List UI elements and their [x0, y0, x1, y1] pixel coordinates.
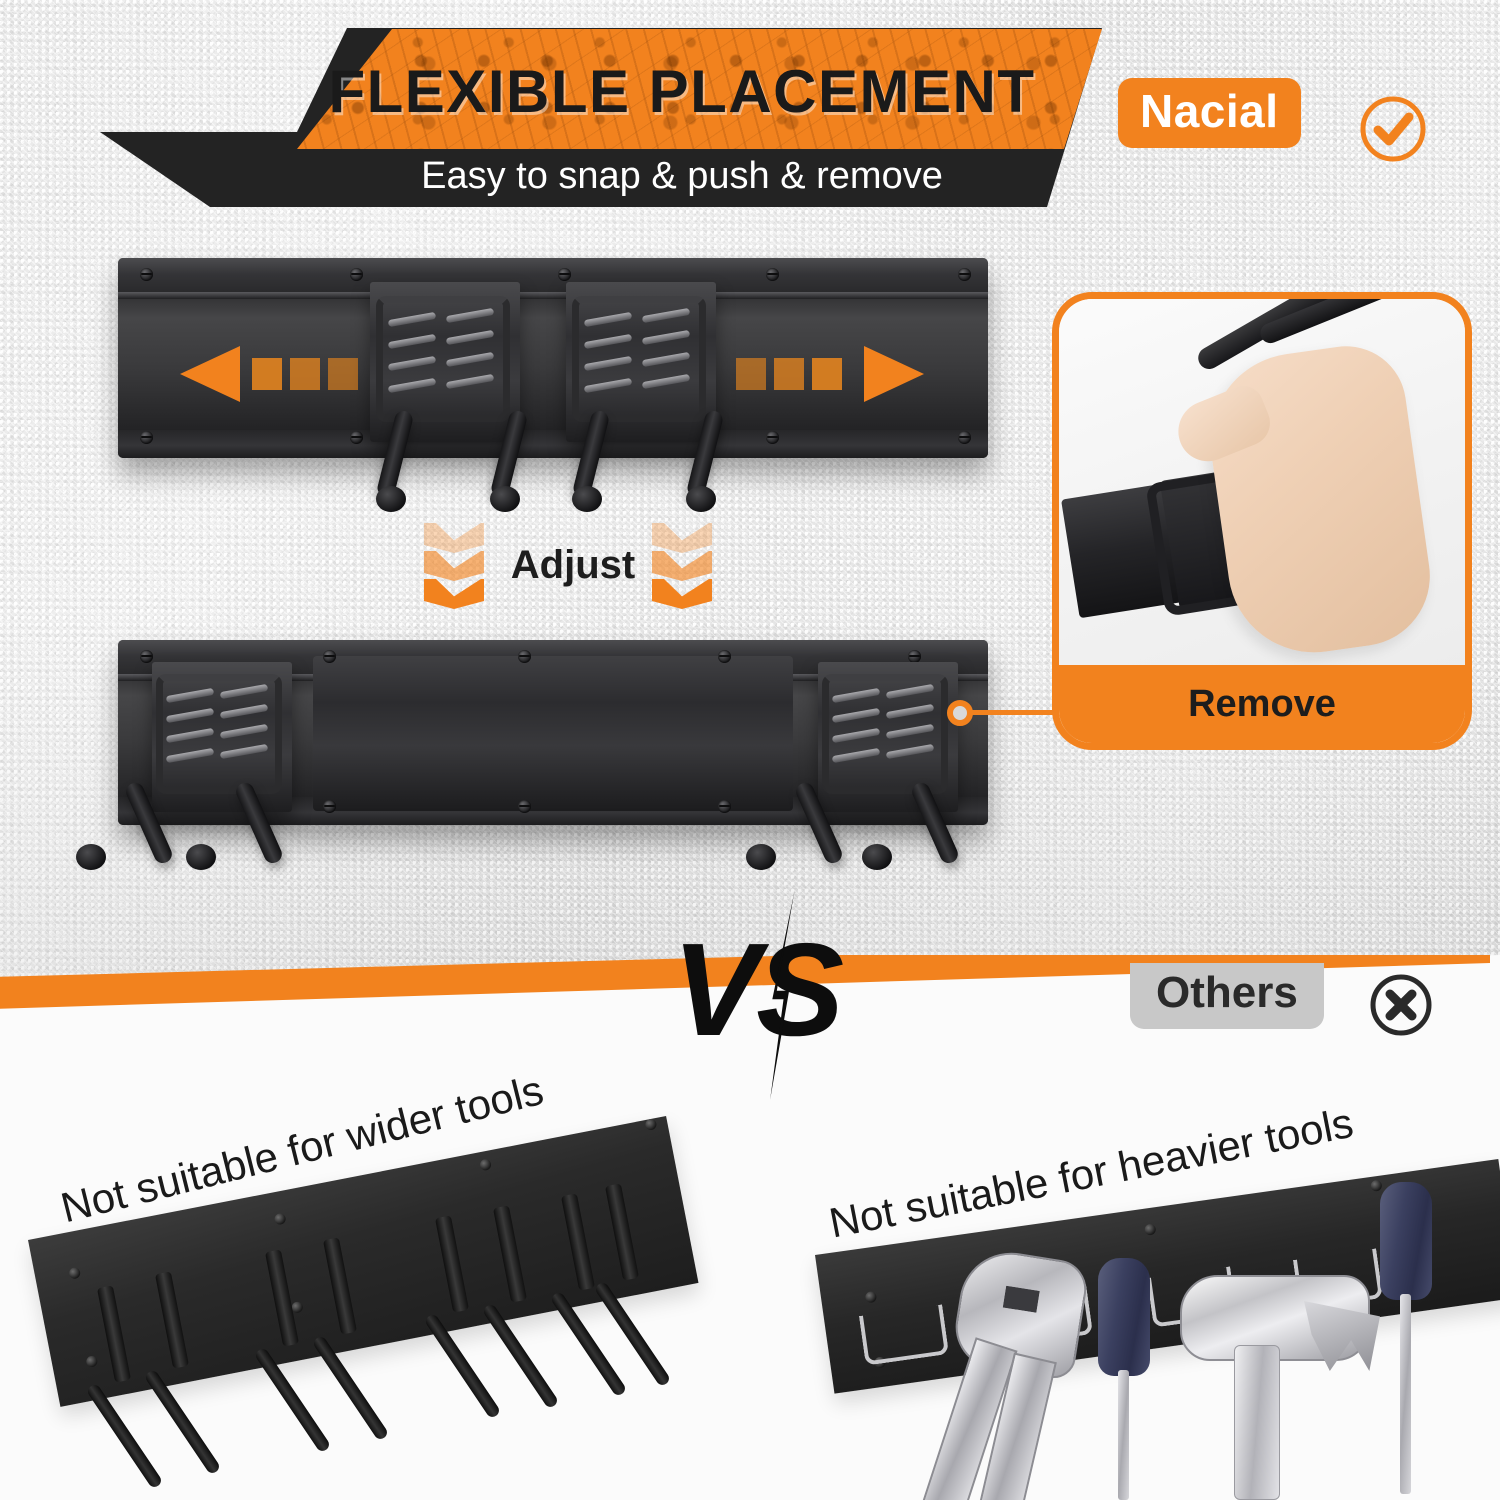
remove-callout-card: Remove [1052, 292, 1472, 750]
rail-screw [140, 268, 153, 281]
chevron-down-icon [652, 551, 712, 581]
rail-screw [350, 268, 363, 281]
rail-screw [140, 431, 153, 444]
header-banner: FLEXIBLE PLACEMENT Easy to snap & push &… [92, 27, 1102, 207]
rack-screw [1370, 1179, 1382, 1191]
hook-assembly[interactable] [152, 662, 292, 812]
arrow-left-icon [180, 346, 370, 402]
versus-label: VS [672, 900, 862, 1080]
hook-assembly[interactable] [818, 662, 958, 812]
hook-prong-tip [76, 844, 106, 870]
hook-wire-frame [822, 674, 948, 794]
brand-badge: Nacial [1118, 78, 1301, 148]
rail-screw [718, 800, 731, 813]
hook-wire-frame [156, 674, 282, 794]
rail-screw [766, 268, 779, 281]
rail-screw [323, 800, 336, 813]
chevron-down-icon [424, 551, 484, 581]
hook-prong-tip [572, 486, 602, 512]
adjust-label: Adjust [498, 543, 648, 588]
rail-bottom-lip [118, 430, 988, 458]
rail-screw [518, 650, 531, 663]
tool-pliers [912, 1242, 1128, 1500]
arrow-left-dash [328, 358, 358, 390]
chevron-down-icon [652, 579, 712, 609]
rail-screw [140, 650, 153, 663]
arrow-right-head [864, 346, 924, 402]
rail-screw [350, 431, 363, 444]
rail-screw [323, 650, 336, 663]
arrow-left-head [180, 346, 240, 402]
rack-screw [644, 1118, 657, 1131]
arrow-right-dash [774, 358, 804, 390]
chevron-down-icon [652, 523, 712, 553]
x-circle-icon [1368, 972, 1434, 1038]
chevron-group-right [652, 523, 716, 617]
rail-screw [558, 268, 571, 281]
rail-top-lip [118, 258, 988, 292]
infographic-stage: FLEXIBLE PLACEMENT Easy to snap & push &… [0, 0, 1500, 1500]
chevron-group-left [424, 523, 488, 617]
screwdriver-shaft [1118, 1370, 1129, 1500]
banner-subtitle: Easy to snap & push & remove [282, 151, 1082, 201]
check-circle-icon [1357, 93, 1429, 165]
hook-prong-tip [376, 486, 406, 512]
remove-caption: Remove [1059, 665, 1465, 743]
tool-hammer [1180, 1275, 1380, 1500]
hook-assembly[interactable] [566, 282, 716, 442]
hook-prong-tip [686, 486, 716, 512]
remove-photo [1059, 299, 1465, 679]
rail-groove [118, 292, 988, 299]
hook-prong-tip [186, 844, 216, 870]
screwdriver-handle [1098, 1258, 1150, 1376]
hook-wire-frame [572, 296, 706, 422]
arrow-right-icon [736, 346, 926, 402]
rail-screw [958, 431, 971, 444]
arrow-left-dash [252, 358, 282, 390]
tool-rail-centered [118, 258, 988, 458]
rack-screw [865, 1291, 877, 1303]
chevron-down-icon [424, 523, 484, 553]
hook-prong-tip [862, 844, 892, 870]
arrow-right-dash [812, 358, 842, 390]
rail-screw [766, 431, 779, 444]
rail-screw [718, 650, 731, 663]
rack-screw [85, 1355, 98, 1368]
rack-screw [68, 1267, 81, 1280]
others-badge: Others [1130, 963, 1324, 1029]
hook-prong-tip [746, 844, 776, 870]
screwdriver-handle [1380, 1182, 1432, 1300]
rack-screw [479, 1158, 492, 1171]
rail-screw [958, 268, 971, 281]
rail-center-panel [313, 656, 793, 811]
banner-title: FLEXIBLE PLACEMENT [282, 51, 1082, 133]
arrow-left-dash [290, 358, 320, 390]
chevron-down-icon [424, 579, 484, 609]
adjust-indicator: Adjust [400, 515, 740, 625]
hook-wire-frame [376, 296, 510, 422]
screwdriver-shaft [1400, 1294, 1411, 1494]
rail-screw [518, 800, 531, 813]
arrow-right-dash [736, 358, 766, 390]
hammer-handle [1234, 1345, 1280, 1500]
tool-rail-spread [118, 640, 988, 825]
hook-prong-tip [490, 486, 520, 512]
rack-screw [1144, 1223, 1156, 1235]
rack-screw [274, 1213, 287, 1226]
hook-assembly[interactable] [370, 282, 520, 442]
